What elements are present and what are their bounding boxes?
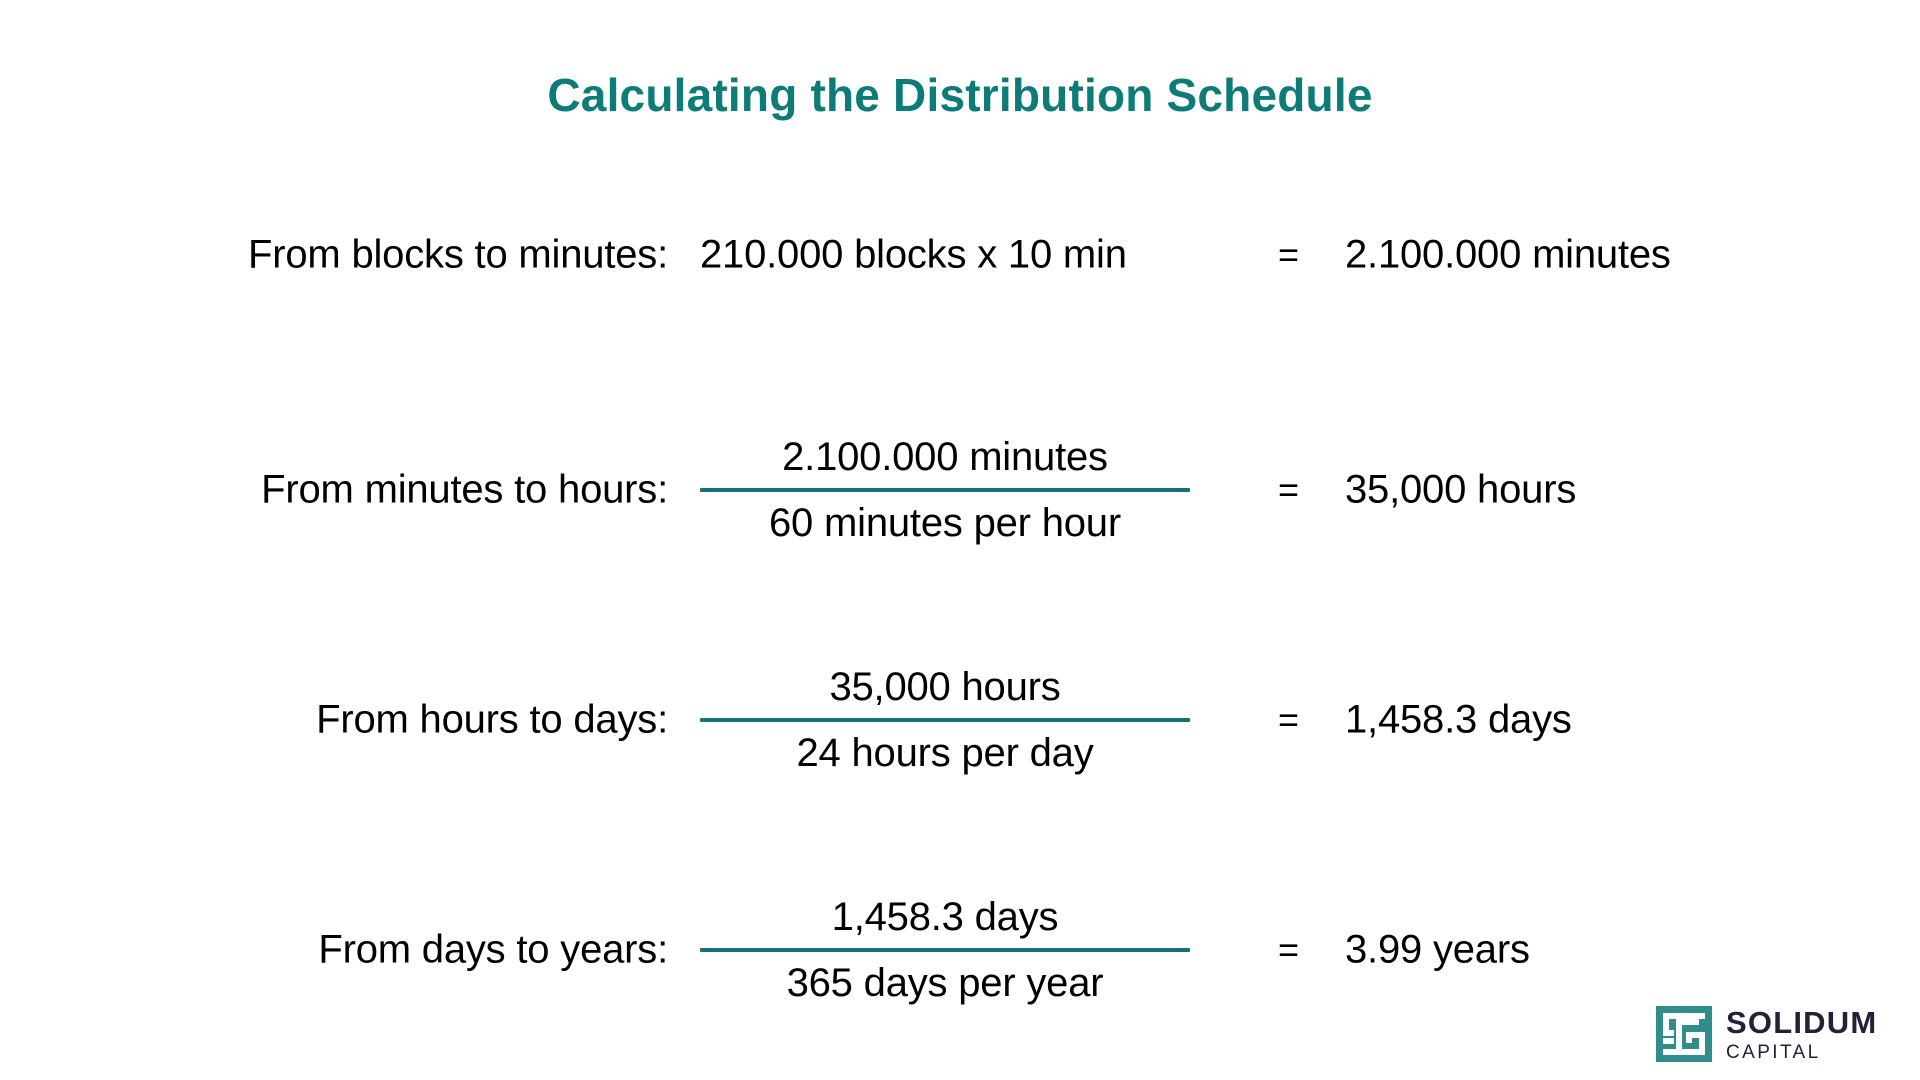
equals-sign: = — [1278, 234, 1299, 276]
solidum-maze-mark-icon — [1656, 1006, 1712, 1062]
fraction-numerator: 1,458.3 days — [700, 896, 1190, 948]
row-result: 3.99 years — [1345, 928, 1530, 973]
row-label: From days to years: — [318, 928, 668, 973]
brand-logo: SOLIDUM CAPITAL — [1656, 1006, 1877, 1062]
equals-sign: = — [1278, 929, 1299, 971]
fraction-block: 1,458.3 days 365 days per year — [700, 896, 1190, 1004]
logo-secondary-text: CAPITAL — [1726, 1043, 1877, 1062]
row-label: From blocks to minutes: — [248, 233, 668, 278]
fraction-numerator: 2.100.000 minutes — [700, 436, 1190, 488]
row-result: 2.100.000 minutes — [1345, 233, 1671, 278]
equals-sign: = — [1278, 469, 1299, 511]
page-title: Calculating the Distribution Schedule — [0, 68, 1920, 122]
fraction-denominator: 365 days per year — [700, 952, 1190, 1004]
fraction-block: 35,000 hours 24 hours per day — [700, 666, 1190, 774]
logo-wordmark: SOLIDUM CAPITAL — [1726, 1007, 1877, 1062]
row-result: 35,000 hours — [1345, 468, 1576, 513]
row-label: From hours to days: — [316, 698, 668, 743]
equals-sign: = — [1278, 699, 1299, 741]
row-expression: 210.000 blocks x 10 min — [700, 233, 1127, 278]
fraction-numerator: 35,000 hours — [700, 666, 1190, 718]
fraction-denominator: 60 minutes per hour — [700, 492, 1190, 544]
logo-primary-text: SOLIDUM — [1726, 1007, 1877, 1038]
row-result: 1,458.3 days — [1345, 698, 1572, 743]
row-label: From minutes to hours: — [261, 468, 668, 513]
fraction-block: 2.100.000 minutes 60 minutes per hour — [700, 436, 1190, 544]
fraction-denominator: 24 hours per day — [700, 722, 1190, 774]
